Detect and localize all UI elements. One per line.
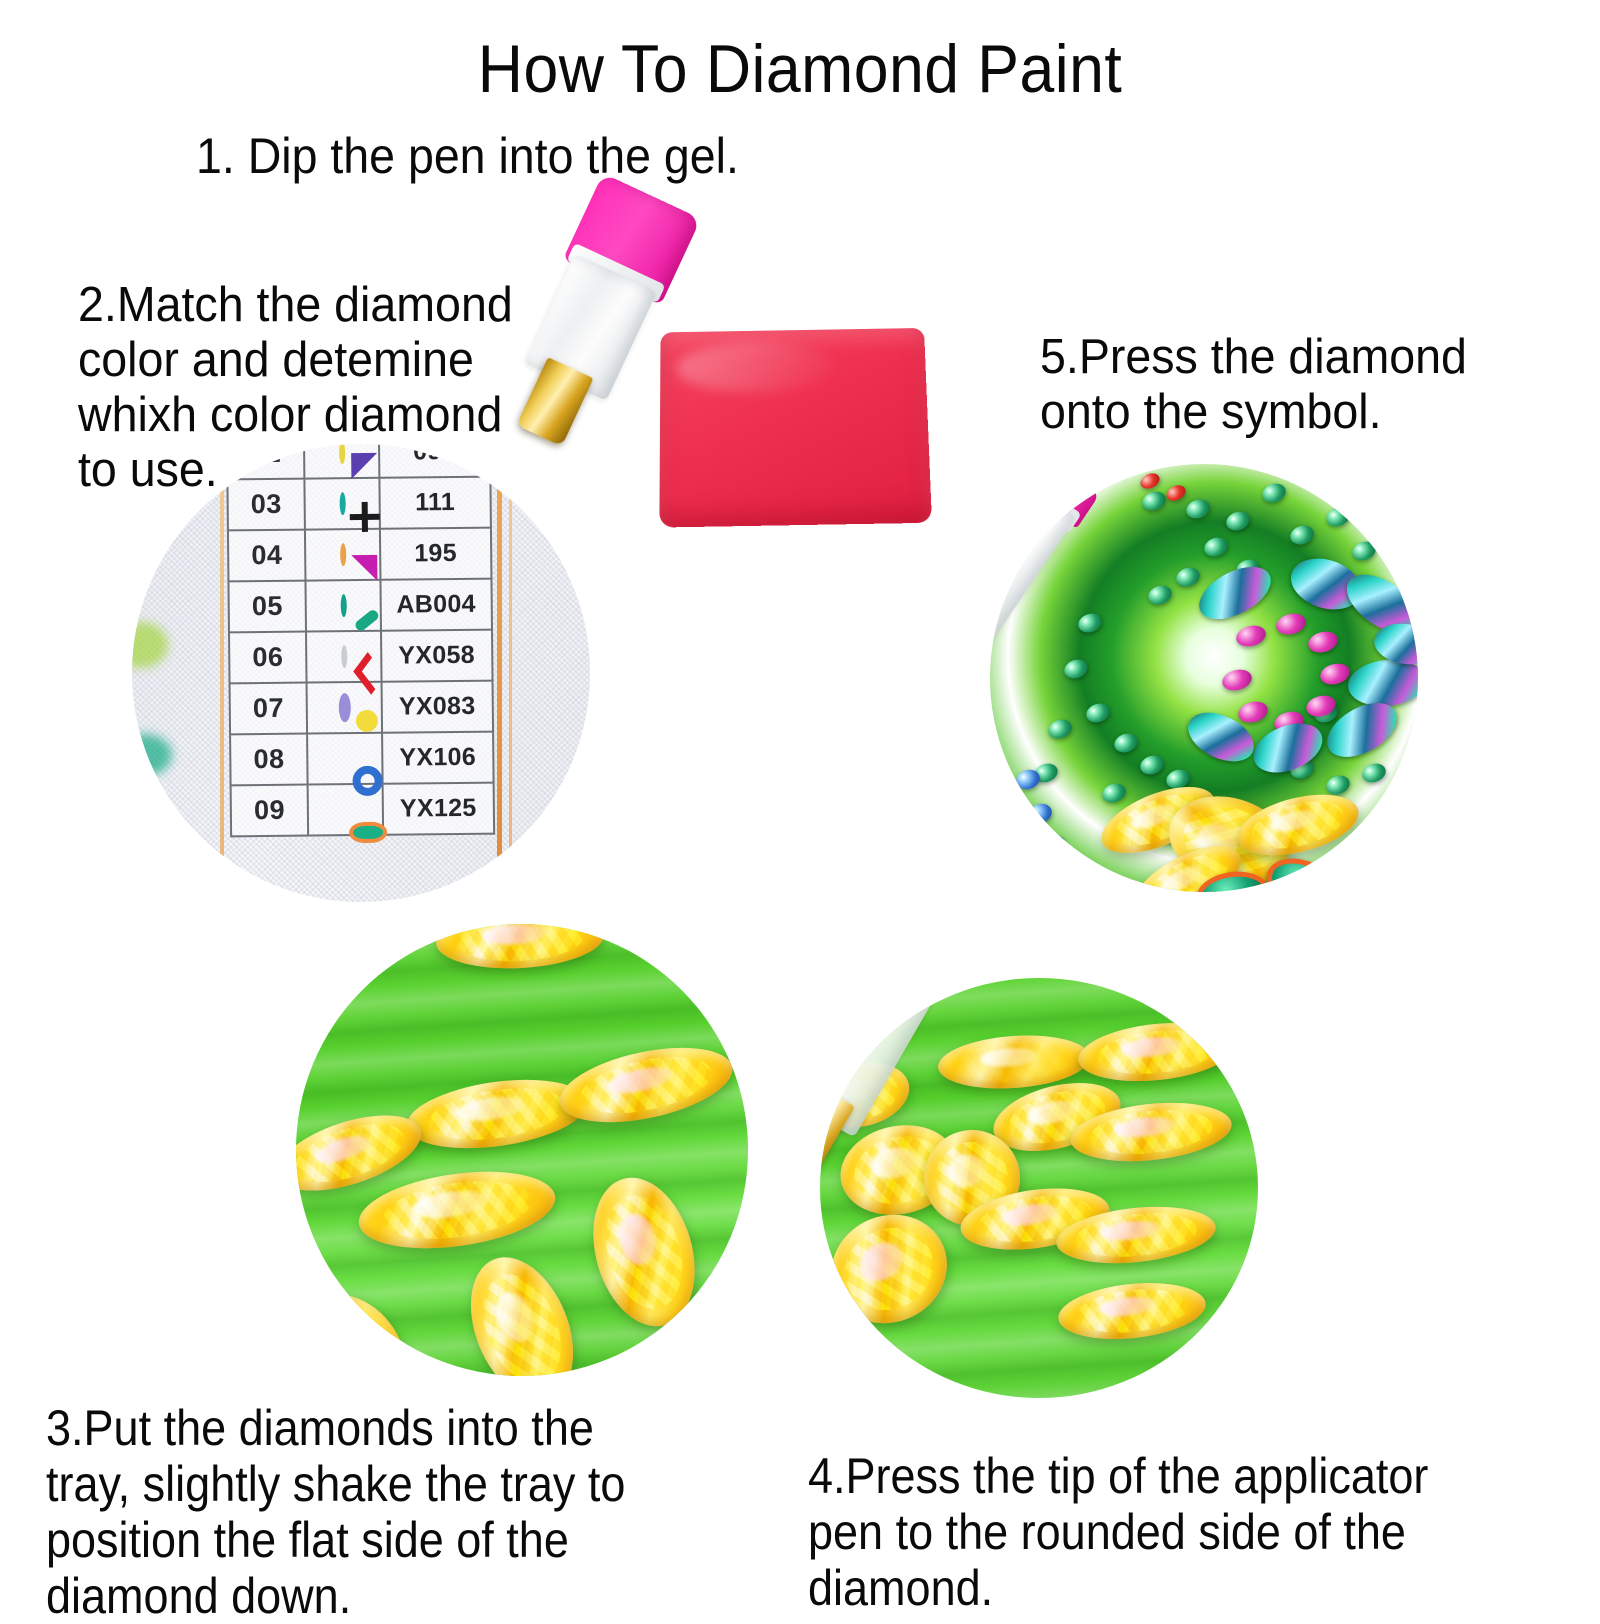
step-1-text: 1. Dip the pen into the gel.	[196, 128, 739, 184]
step-5-text: 5.Press the diamond onto the symbol.	[1040, 330, 1467, 440]
chart-symbol-slash-icon	[306, 580, 381, 632]
table-row: 05AB004	[228, 579, 492, 633]
page-title: How To Diamond Paint	[64, 30, 1536, 108]
chart-row-code: AB004	[380, 579, 492, 631]
gel-highlight	[676, 341, 836, 393]
chart-symbol-triangle-down-left-icon	[304, 444, 379, 479]
chart-row-number: 06	[229, 632, 307, 684]
chart-symbol-ring-icon	[307, 733, 382, 785]
canvas-guide-right-b	[509, 444, 512, 902]
table-row: 06YX058	[229, 630, 493, 684]
chart-row-code: 111	[379, 477, 491, 529]
canvas-guide-right-a	[497, 444, 502, 902]
chart-symbol-cross-icon	[305, 478, 380, 530]
mandala-photo	[990, 464, 1418, 892]
chart-row-number: 08	[230, 734, 308, 786]
chart-row-code: YX058	[381, 630, 493, 682]
chart-symbol-chevron-left-icon	[306, 631, 381, 683]
table-row: 02093	[227, 444, 491, 479]
step-4-text: 4.Press the tip of the applicator pen to…	[808, 1448, 1428, 1616]
gel-block-photo	[659, 328, 932, 528]
chart-row-number: 03	[227, 479, 305, 531]
color-chart-photo: 02093031110419505AB00406YX05807YX08308YX…	[132, 444, 590, 902]
chart-row-number: 07	[230, 683, 308, 735]
chart-row-code: 093	[379, 444, 491, 478]
table-row: 04195	[228, 528, 492, 582]
diamond-tray-photo	[296, 924, 748, 1376]
step-3-text: 3.Put the diamonds into the tray, slight…	[46, 1400, 625, 1624]
chart-row-code: YX083	[381, 681, 493, 733]
chart-row-code: YX106	[382, 732, 494, 784]
canvas-guide-left	[220, 444, 224, 902]
table-row: 03111	[227, 477, 491, 531]
applicator-photo	[820, 978, 1258, 1398]
chart-row-number: 02	[227, 444, 305, 479]
chart-row-code: 195	[380, 528, 492, 580]
color-chart-table: 02093031110419505AB00406YX05807YX08308YX…	[226, 444, 495, 837]
chart-symbol-triangle-down-right-icon	[305, 529, 380, 581]
table-row: 07YX083	[230, 681, 494, 735]
chart-row-number: 05	[228, 581, 306, 633]
chart-row-number: 09	[231, 785, 309, 837]
chart-row-number: 04	[228, 530, 306, 582]
chart-row-code: YX125	[382, 783, 494, 835]
table-row: 08YX106	[230, 732, 494, 786]
